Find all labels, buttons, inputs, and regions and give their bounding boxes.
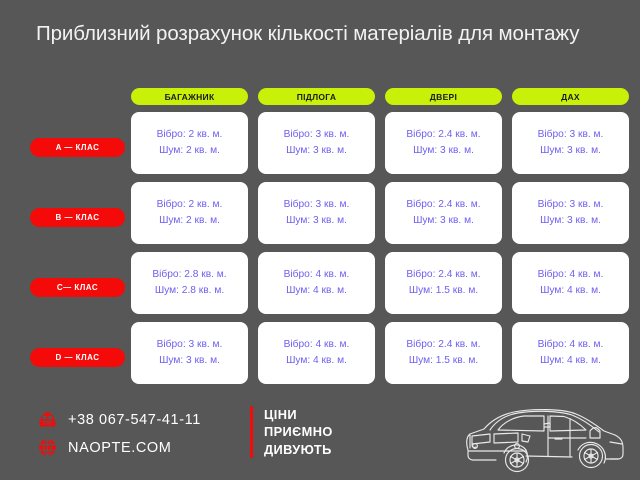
phone-row[interactable]: +38 067-547-41-11 (38, 410, 201, 429)
cell-noise-value: Шум: 4 кв. м. (540, 285, 601, 297)
globe-icon (38, 438, 57, 457)
table-row: A — КЛАС Вібро: 2 кв. м. Шум: 2 кв. м. В… (0, 112, 640, 182)
slogan-line-1: ЦІНИ (264, 406, 333, 423)
table-row: D — КЛАС Вібро: 3 кв. м. Шум: 3 кв. м. В… (0, 322, 640, 392)
cell-vibro-value: Вібро: 4 кв. м. (284, 269, 350, 281)
cell-vibro-value: Вібро: 4 кв. м. (538, 339, 604, 351)
cell-vibro-value: Вібро: 3 кв. м. (284, 129, 350, 141)
slogan-divider (250, 406, 253, 458)
cell-noise-value: Шум: 3 кв. м. (413, 145, 474, 157)
table-row: C— КЛАС Вібро: 2.8 кв. м. Шум: 2.8 кв. м… (0, 252, 640, 322)
cell-b-bagazhnyk: Вібро: 2 кв. м. Шум: 2 кв. м. (131, 182, 248, 244)
row-cells-c: Вібро: 2.8 кв. м. Шум: 2.8 кв. м. Вібро:… (131, 252, 629, 314)
cell-noise-value: Шум: 4 кв. м. (540, 355, 601, 367)
cell-d-bagazhnyk: Вібро: 3 кв. м. Шум: 3 кв. м. (131, 322, 248, 384)
row-cells-a: Вібро: 2 кв. м. Шум: 2 кв. м. Вібро: 3 к… (131, 112, 629, 174)
contact-block: +38 067-547-41-11 NAOPTE.COM (38, 410, 201, 457)
cell-noise-value: Шум: 3 кв. м. (540, 145, 601, 157)
row-label-wrap-a: A — КЛАС (30, 112, 125, 182)
cell-noise-value: Шум: 2 кв. м. (159, 145, 220, 157)
cell-b-dveri: Вібро: 2.4 кв. м. Шум: 3 кв. м. (385, 182, 502, 244)
cell-vibro-value: Вібро: 3 кв. м. (538, 199, 604, 211)
cell-noise-value: Шум: 1.5 кв. м. (409, 355, 478, 367)
cell-vibro-value: Вібро: 2.4 кв. м. (406, 339, 480, 351)
cell-noise-value: Шум: 1.5 кв. м. (409, 285, 478, 297)
cell-b-dakh: Вібро: 3 кв. м. Шум: 3 кв. м. (512, 182, 629, 244)
cell-c-pidloha: Вібро: 4 кв. м. Шум: 4 кв. м. (258, 252, 375, 314)
cell-vibro-value: Вібро: 3 кв. м. (284, 199, 350, 211)
row-label-a[interactable]: A — КЛАС (30, 138, 125, 157)
cell-noise-value: Шум: 3 кв. м. (159, 355, 220, 367)
matrix-rows: A — КЛАС Вібро: 2 кв. м. Шум: 2 кв. м. В… (0, 112, 640, 392)
slogan-block: ЦІНИ ПРИЄМНО ДИВУЮТЬ (250, 406, 333, 458)
cell-a-pidloha: Вібро: 3 кв. м. Шум: 3 кв. м. (258, 112, 375, 174)
cell-noise-value: Шум: 2.8 кв. м. (155, 285, 224, 297)
row-label-wrap-b: B — КЛАС (30, 182, 125, 252)
row-cells-d: Вібро: 3 кв. м. Шум: 3 кв. м. Вібро: 4 к… (131, 322, 629, 384)
cell-noise-value: Шум: 3 кв. м. (286, 215, 347, 227)
cell-d-dveri: Вібро: 2.4 кв. м. Шум: 1.5 кв. м. (385, 322, 502, 384)
cell-noise-value: Шум: 2 кв. м. (159, 215, 220, 227)
cell-vibro-value: Вібро: 2.4 кв. м. (406, 199, 480, 211)
table-row: B — КЛАС Вібро: 2 кв. м. Шум: 2 кв. м. В… (0, 182, 640, 252)
cell-vibro-value: Вібро: 2.8 кв. м. (152, 269, 226, 281)
cell-vibro-value: Вібро: 2.4 кв. м. (406, 269, 480, 281)
cell-a-dveri: Вібро: 2.4 кв. м. Шум: 3 кв. м. (385, 112, 502, 174)
row-label-wrap-d: D — КЛАС (30, 322, 125, 392)
row-cells-b: Вібро: 2 кв. м. Шум: 2 кв. м. Вібро: 3 к… (131, 182, 629, 244)
phone-number[interactable]: +38 067-547-41-11 (68, 412, 201, 428)
telephone-icon (38, 410, 57, 429)
column-header-dakh[interactable]: ДАХ (512, 88, 629, 105)
cell-d-pidloha: Вібро: 4 кв. м. Шум: 4 кв. м. (258, 322, 375, 384)
cell-a-dakh: Вібро: 3 кв. м. Шум: 3 кв. м. (512, 112, 629, 174)
cell-vibro-value: Вібро: 4 кв. м. (538, 269, 604, 281)
cell-noise-value: Шум: 4 кв. м. (286, 355, 347, 367)
cell-b-pidloha: Вібро: 3 кв. м. Шум: 3 кв. м. (258, 182, 375, 244)
suv-car-illustration (460, 404, 632, 476)
row-label-wrap-c: C— КЛАС (30, 252, 125, 322)
row-label-d[interactable]: D — КЛАС (30, 348, 125, 367)
cell-d-dakh: Вібро: 4 кв. м. Шум: 4 кв. м. (512, 322, 629, 384)
cell-c-dveri: Вібро: 2.4 кв. м. Шум: 1.5 кв. м. (385, 252, 502, 314)
cell-noise-value: Шум: 4 кв. м. (286, 285, 347, 297)
cell-noise-value: Шум: 3 кв. м. (413, 215, 474, 227)
page-title: Приблизний розрахунок кількості матеріал… (36, 20, 616, 47)
slogan-text: ЦІНИ ПРИЄМНО ДИВУЮТЬ (264, 406, 333, 458)
row-label-b[interactable]: B — КЛАС (30, 208, 125, 227)
cell-vibro-value: Вібро: 2 кв. м. (157, 199, 223, 211)
slogan-line-3: ДИВУЮТЬ (264, 441, 333, 458)
cell-a-bagazhnyk: Вібро: 2 кв. м. Шум: 2 кв. м. (131, 112, 248, 174)
cell-c-dakh: Вібро: 4 кв. м. Шум: 4 кв. м. (512, 252, 629, 314)
cell-vibro-value: Вібро: 4 кв. м. (284, 339, 350, 351)
website-row[interactable]: NAOPTE.COM (38, 438, 201, 457)
cell-c-bagazhnyk: Вібро: 2.8 кв. м. Шум: 2.8 кв. м. (131, 252, 248, 314)
cell-noise-value: Шум: 3 кв. м. (540, 215, 601, 227)
cell-vibro-value: Вібро: 3 кв. м. (538, 129, 604, 141)
row-label-c[interactable]: C— КЛАС (30, 278, 125, 297)
footer: +38 067-547-41-11 NAOPTE.COM ЦІНИ (0, 398, 640, 480)
column-header-pidloha[interactable]: ПІДЛОГА (258, 88, 375, 105)
cell-vibro-value: Вібро: 2.4 кв. м. (406, 129, 480, 141)
slogan-line-2: ПРИЄМНО (264, 423, 333, 440)
cell-noise-value: Шум: 3 кв. м. (286, 145, 347, 157)
cell-vibro-value: Вібро: 2 кв. м. (157, 129, 223, 141)
column-header-row: БАГАЖНИК ПІДЛОГА ДВЕРІ ДАХ (131, 88, 629, 105)
column-header-bagazhnyk[interactable]: БАГАЖНИК (131, 88, 248, 105)
cell-vibro-value: Вібро: 3 кв. м. (157, 339, 223, 351)
website-url[interactable]: NAOPTE.COM (68, 440, 171, 456)
column-header-dveri[interactable]: ДВЕРІ (385, 88, 502, 105)
